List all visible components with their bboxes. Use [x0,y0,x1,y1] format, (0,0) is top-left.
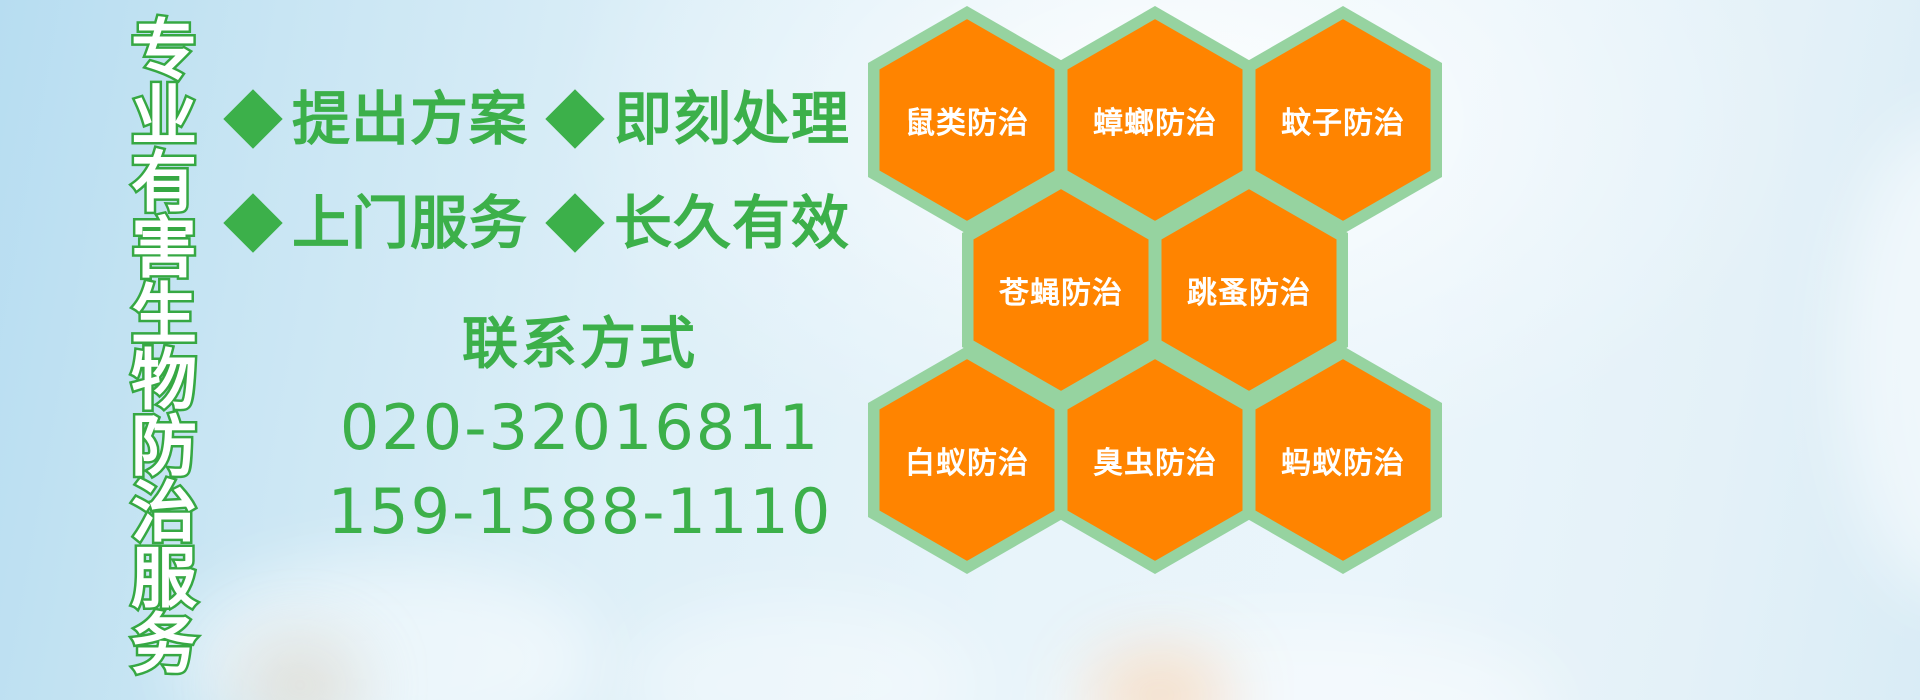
feature-label: 即刻处理 [614,88,850,150]
promo-banner: 专 业 有 害 生 物 防 治 服 务 提出方案 即刻处理 上门服务 长久有效 [0,0,1920,700]
service-hex-termite-control[interactable]: 白蚁防治 [868,346,1066,574]
diamond-bullet-icon [223,89,282,148]
feature-row-1: 提出方案 即刻处理 [232,88,850,150]
service-hex-ant-control[interactable]: 蚂蚁防治 [1244,346,1442,574]
feature-label: 长久有效 [614,192,850,254]
diamond-bullet-icon [223,193,282,252]
feature-item-immediate-action: 即刻处理 [554,88,850,150]
service-honeycomb-grid: 鼠类防治 蟑螂防治 蚊子防治 苍蝇防治 跳蚤防治 白蚁防治 [862,0,1462,700]
vertical-headline-char: 治 [131,480,197,546]
vertical-headline-char: 防 [131,414,197,480]
vertical-headline-char: 业 [131,84,197,150]
feature-item-propose-plan: 提出方案 [232,88,528,150]
feature-label: 上门服务 [292,192,528,254]
phone-mobile[interactable]: 159-1588-1110 [300,470,860,554]
vertical-headline-char: 害 [131,216,197,282]
contact-heading: 联系方式 [300,312,860,378]
feature-row-2: 上门服务 长久有效 [232,192,850,254]
diamond-bullet-icon [545,89,604,148]
vertical-headline-char: 有 [131,150,197,216]
vertical-headline-char: 物 [131,348,197,414]
service-hex-bedbug-control[interactable]: 臭虫防治 [1056,346,1254,574]
service-hex-label: 白蚁防治 [868,346,1066,574]
phone-landline[interactable]: 020-32016811 [300,386,860,470]
vertical-headline-char: 生 [131,282,197,348]
vertical-headline-char: 服 [131,546,197,612]
contact-block: 联系方式 020-32016811 159-1588-1110 [300,312,860,554]
background-blur-blob [1840,120,1920,600]
background-blur-blob [180,560,600,700]
feature-item-long-lasting: 长久有效 [554,192,850,254]
service-hex-label: 臭虫防治 [1056,346,1254,574]
background-blur-blob [240,640,360,700]
feature-label: 提出方案 [292,88,528,150]
vertical-headline-char: 专 [131,18,197,84]
vertical-headline: 专 业 有 害 生 物 防 治 服 务 [118,18,210,682]
feature-item-onsite-service: 上门服务 [232,192,528,254]
diamond-bullet-icon [545,193,604,252]
service-hex-label: 蚂蚁防治 [1244,346,1442,574]
vertical-headline-char: 务 [131,612,197,678]
